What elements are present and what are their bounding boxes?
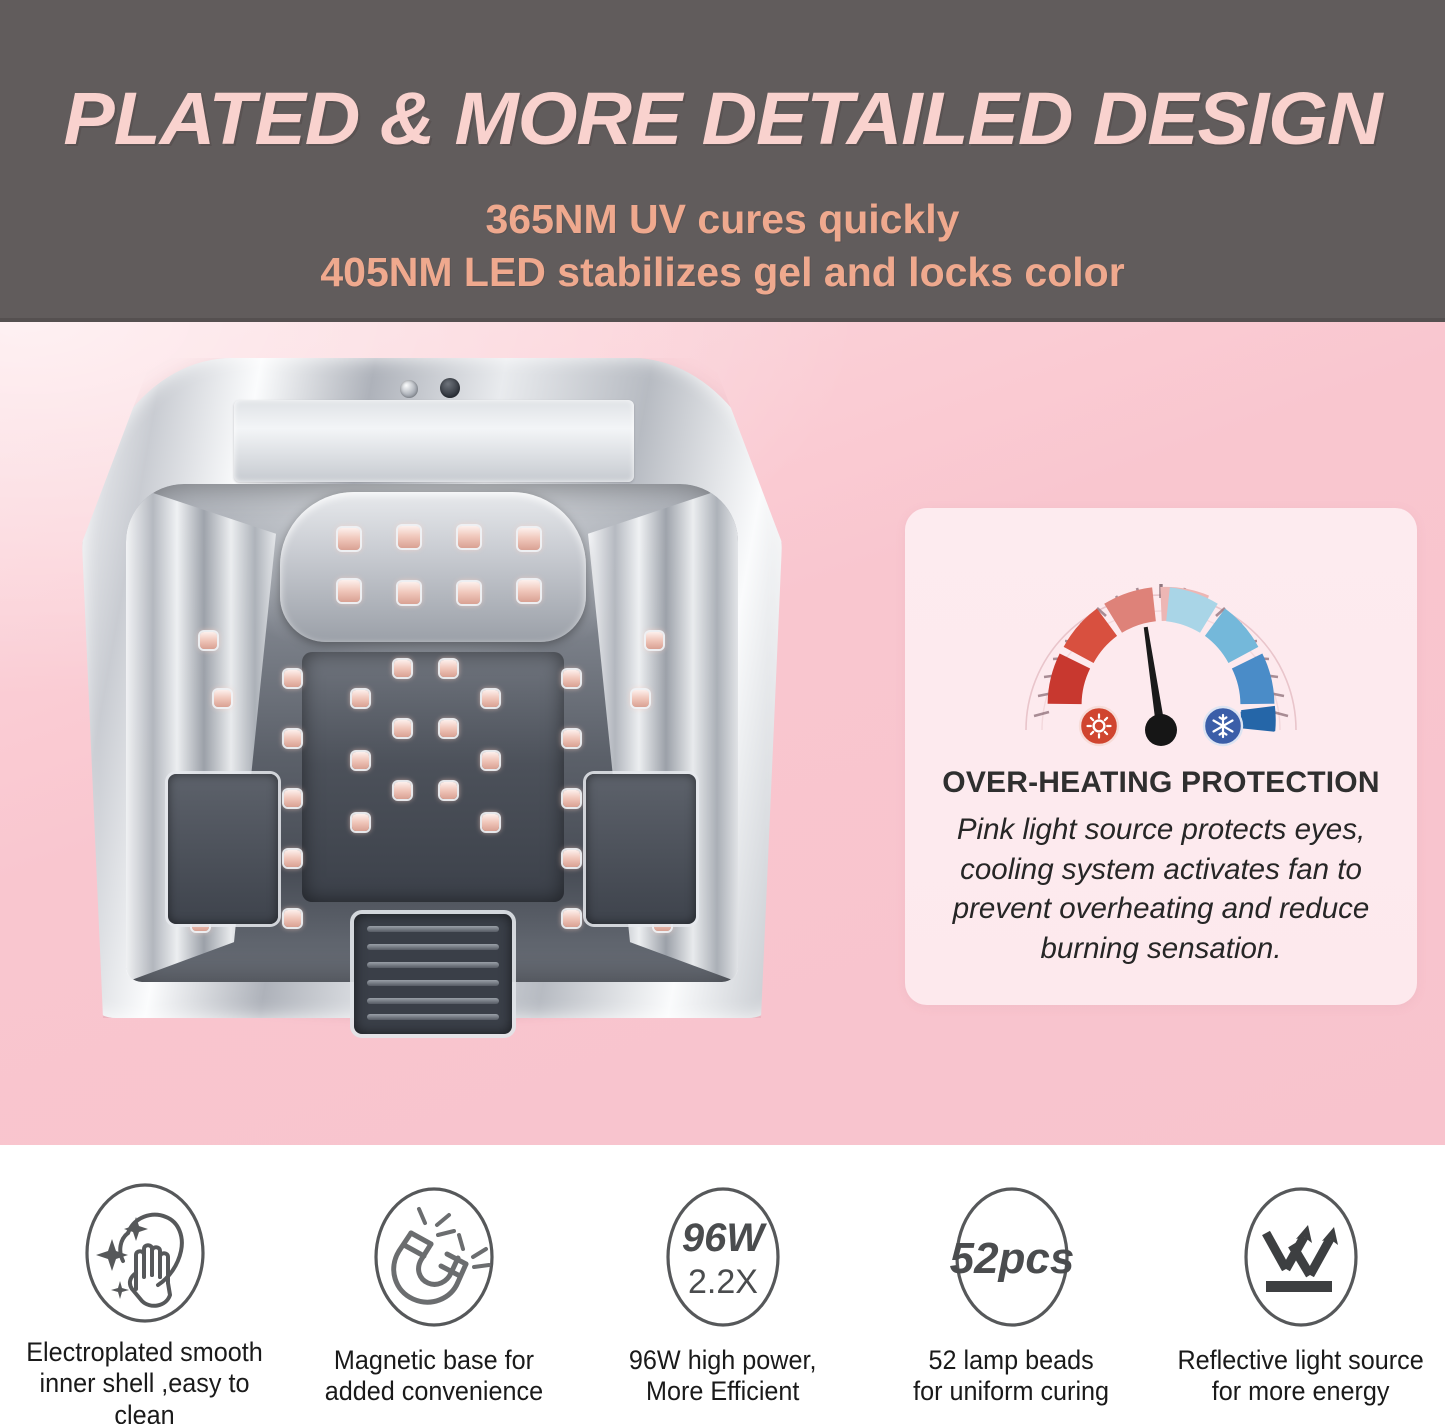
product-stage: OVER-HEATING PROTECTION Pink light sourc… (0, 322, 1445, 1145)
feature-item-reflective: Reflective light source for more energy (1156, 1145, 1445, 1424)
product-infographic: PLATED & MORE DETAILED DESIGN 365NM UV c… (0, 0, 1445, 1424)
sun-icon (1080, 707, 1118, 745)
power-multiplier-value: 2.2X (688, 1263, 758, 1301)
feature-label: Electroplated smooth inner shell ,easy t… (7, 1337, 282, 1424)
magnet-icon (344, 1177, 524, 1337)
feature-item-beads: 52pcs 52 lamp beads for uniform curing (867, 1145, 1156, 1424)
feature-label: 52 lamp beads for uniform curing (914, 1345, 1110, 1408)
card-title: OVER-HEATING PROTECTION (905, 766, 1417, 800)
feature-label: Magnetic base for added convenience (324, 1345, 542, 1408)
feature-item-magnet: Magnetic base for added convenience (289, 1145, 578, 1424)
header-subtitle-line2: 405NM LED stabilizes gel and locks color (0, 247, 1445, 297)
screw-top-right (440, 378, 460, 398)
reflective-light-icon (1211, 1177, 1391, 1337)
lamp-beads-52pcs-icon: 52pcs (922, 1177, 1102, 1337)
product-image (82, 358, 782, 1048)
bead-count-value: 52pcs (949, 1234, 1074, 1283)
side-pad-left (168, 774, 278, 924)
feature-strip: Electroplated smooth inner shell ,easy t… (0, 1145, 1445, 1424)
power-96w-icon: 96W 2.2X (633, 1177, 813, 1337)
page-title: PLATED & MORE DETAILED DESIGN (0, 82, 1445, 156)
gauge-hub (1145, 714, 1177, 746)
cooling-fan-vent (354, 914, 512, 1034)
lamp-inner-cavity (126, 484, 738, 982)
feature-item-power: 96W 2.2X 96W high power, More Efficient (578, 1145, 867, 1424)
feature-item-electroplated: Electroplated smooth inner shell ,easy t… (0, 1145, 289, 1424)
lamp-top-plate (234, 400, 634, 482)
header-banner: PLATED & MORE DETAILED DESIGN 365NM UV c… (0, 0, 1445, 322)
side-pad-right (586, 774, 696, 924)
sparkle-hand-wipe-icon (55, 1177, 235, 1329)
over-heating-protection-card: OVER-HEATING PROTECTION Pink light sourc… (905, 508, 1417, 1005)
header-subtitle-line1: 365NM UV cures quickly (0, 194, 1445, 244)
feature-label: 96W high power, More Efficient (629, 1345, 817, 1408)
feature-label: Reflective light source for more energy (1177, 1345, 1423, 1408)
temperature-gauge-icon (996, 530, 1326, 762)
snowflake-icon (1204, 707, 1242, 745)
card-body-text: Pink light source protects eyes, cooling… (931, 810, 1391, 968)
screw-top-left (400, 380, 418, 398)
lamp-center-panel (302, 652, 564, 902)
power-watt-value: 96W (681, 1216, 766, 1260)
lamp-hood (280, 492, 586, 642)
